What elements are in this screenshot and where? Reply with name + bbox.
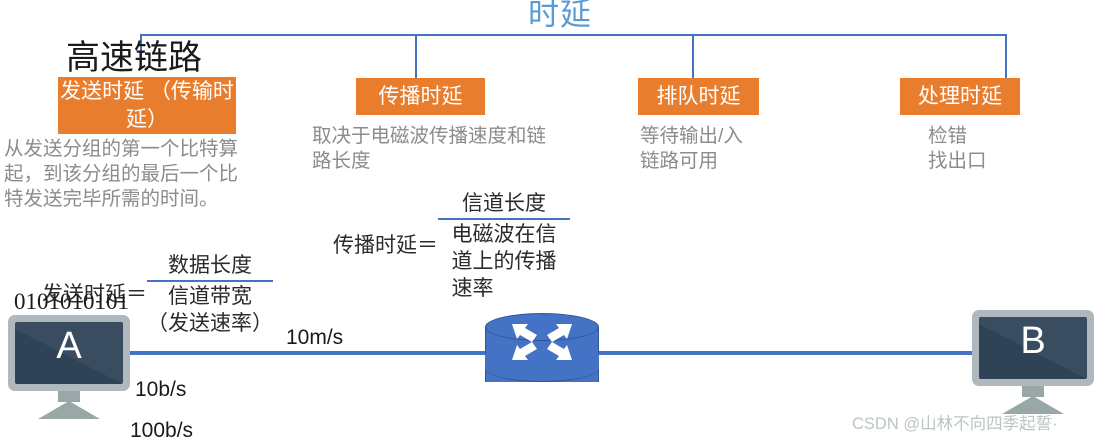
watermark: CSDN @山林不向四季起誓· [852,413,1058,435]
description-processing-delay: 检错 找出口 [928,124,1088,174]
router-switch-icon[interactable] [485,313,599,396]
description-propagation-delay: 取决于电磁波传播速度和链路长度 [312,124,562,174]
label-propagation-speed: 10m/s [286,325,343,351]
host-b-label: B [972,310,1094,372]
badge-queuing-delay[interactable]: 排队时延 [638,78,759,115]
bracket-drop-prop [415,34,417,78]
monitor-stand [38,401,100,419]
router-arrows-icon [485,313,599,396]
fraction-numerator: 数据长度 [168,252,252,279]
badge-transmission-delay[interactable]: 发送时延 （传输时延） [58,77,236,134]
section-heading-high-speed-link: 高速链路 [66,37,202,79]
fraction-bar [147,280,273,282]
link-router-to-b [592,351,977,355]
label-send-rate-2: 100b/s [130,418,193,444]
page-title: 时延 [500,0,620,34]
bitstream-label: 0101010101 [14,288,129,316]
fraction-numerator: 信道长度 [462,190,546,217]
fraction: 数据长度 信道带宽 （发送速率） [147,252,273,337]
description-queuing-delay: 等待输出/入 链路可用 [640,124,820,174]
label-send-rate-1: 10b/s [135,377,186,403]
fraction-denominator: 电磁波在信 道上的传播 速率 [452,221,557,302]
badge-processing-delay[interactable]: 处理时延 [900,78,1020,115]
formula-propagation-delay: 传播时延＝ 信道长度 电磁波在信 道上的传播 速率 [333,190,570,302]
description-transmission-delay: 从发送分组的第一个比特算起，到该分组的最后一个比特发送完毕所需的时间。 [4,137,244,212]
formula-lhs: 传播时延＝ [333,232,438,259]
badge-propagation-delay[interactable]: 传播时延 [356,78,485,115]
fraction-denominator: 信道带宽 （发送速率） [147,283,273,337]
monitor-stand [1002,396,1064,414]
link-a-to-router [128,351,491,355]
fraction-bar [438,218,570,220]
host-a-label: A [8,315,130,377]
bracket-horizontal [140,34,1006,36]
fraction: 信道长度 电磁波在信 道上的传播 速率 [438,190,570,302]
bracket-drop-proc [1005,34,1007,78]
bracket-drop-queue [692,34,694,78]
